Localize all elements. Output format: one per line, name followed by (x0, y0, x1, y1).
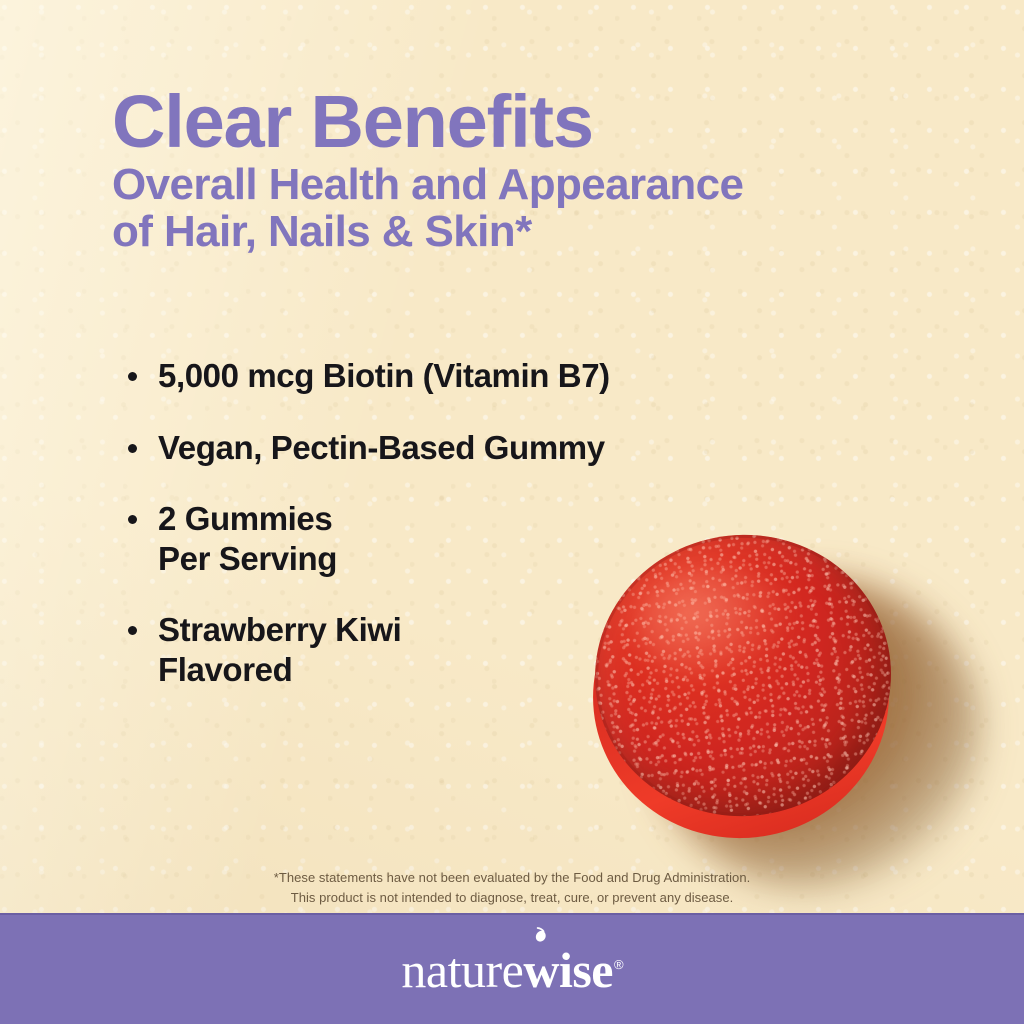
footer-band: naturewise® (0, 913, 1024, 1024)
subtitle-line-2: of Hair, Nails & Skin* (112, 208, 922, 255)
brand-name-part1: nature (401, 942, 523, 998)
brand-name-part2: wise (523, 942, 613, 998)
leaf-icon (532, 927, 549, 948)
list-item-label: Vegan, Pectin-Based Gummy (158, 429, 605, 466)
list-item-label: Strawberry Kiwi (158, 611, 401, 648)
disclaimer-line-2: This product is not intended to diagnose… (0, 888, 1024, 908)
product-benefits-poster: Clear Benefits Overall Health and Appear… (0, 0, 1024, 1024)
page-title: Clear Benefits (112, 86, 922, 157)
subtitle-line-1: Overall Health and Appearance (112, 161, 922, 208)
list-item: 5,000 mcg Biotin (Vitamin B7) (126, 356, 806, 396)
list-item-label: 5,000 mcg Biotin (Vitamin B7) (158, 357, 610, 394)
gummy-product-image (560, 500, 1024, 920)
list-item: Vegan, Pectin-Based Gummy (126, 428, 806, 468)
headline-block: Clear Benefits Overall Health and Appear… (112, 86, 922, 255)
bullet-dot-icon (128, 626, 137, 635)
registered-trademark-symbol: ® (614, 957, 624, 972)
bullet-dot-icon (128, 372, 137, 381)
bullet-dot-icon (128, 444, 137, 453)
disclaimer-line-1: *These statements have not been evaluate… (0, 868, 1024, 888)
brand-logo: naturewise® (0, 941, 1024, 999)
fda-disclaimer: *These statements have not been evaluate… (0, 868, 1024, 908)
bullet-dot-icon (128, 515, 137, 524)
list-item-label: 2 Gummies (158, 500, 332, 537)
